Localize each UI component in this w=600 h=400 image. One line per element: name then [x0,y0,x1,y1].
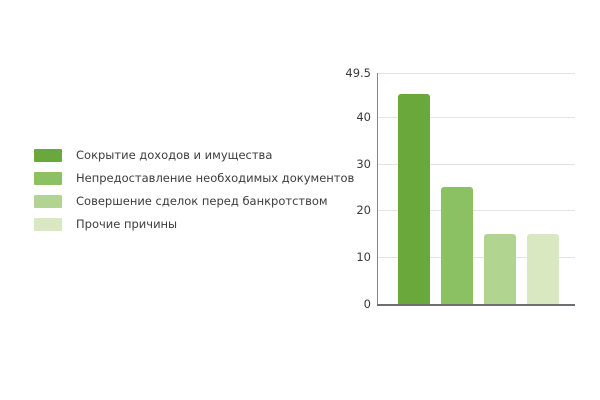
x-axis-line [377,304,575,306]
legend-item-label: Непредоставление необходимых документов [76,172,354,185]
y-tick-label: 0 [311,297,371,311]
bar-series-4[interactable] [527,234,559,304]
legend-item[interactable]: Сокрытие доходов и имущества [34,144,354,167]
plot-area [377,73,575,304]
legend-swatch-icon [34,172,62,185]
bar-series-1[interactable] [398,94,430,304]
gridline [377,73,575,74]
legend-swatch-icon [34,195,62,208]
bar-chart: Сокрытие доходов и имущества Непредостав… [0,0,600,400]
y-axis-line [377,73,378,304]
bar-series-2[interactable] [441,187,473,304]
legend-item-label: Сокрытие доходов и имущества [76,149,272,162]
y-tick-label: 49.5 [311,66,371,80]
chart-legend: Сокрытие доходов и имущества Непредостав… [34,144,354,236]
legend-item-label: Прочие причины [76,218,177,231]
bar-series-3[interactable] [484,234,516,304]
y-tick-label: 40 [311,110,371,124]
legend-item[interactable]: Непредоставление необходимых документов [34,167,354,190]
y-tick-label: 10 [311,250,371,264]
legend-swatch-icon [34,149,62,162]
legend-item[interactable]: Прочие причины [34,213,354,236]
legend-swatch-icon [34,218,62,231]
legend-item-label: Совершение сделок перед банкротством [76,195,328,208]
legend-item[interactable]: Совершение сделок перед банкротством [34,190,354,213]
